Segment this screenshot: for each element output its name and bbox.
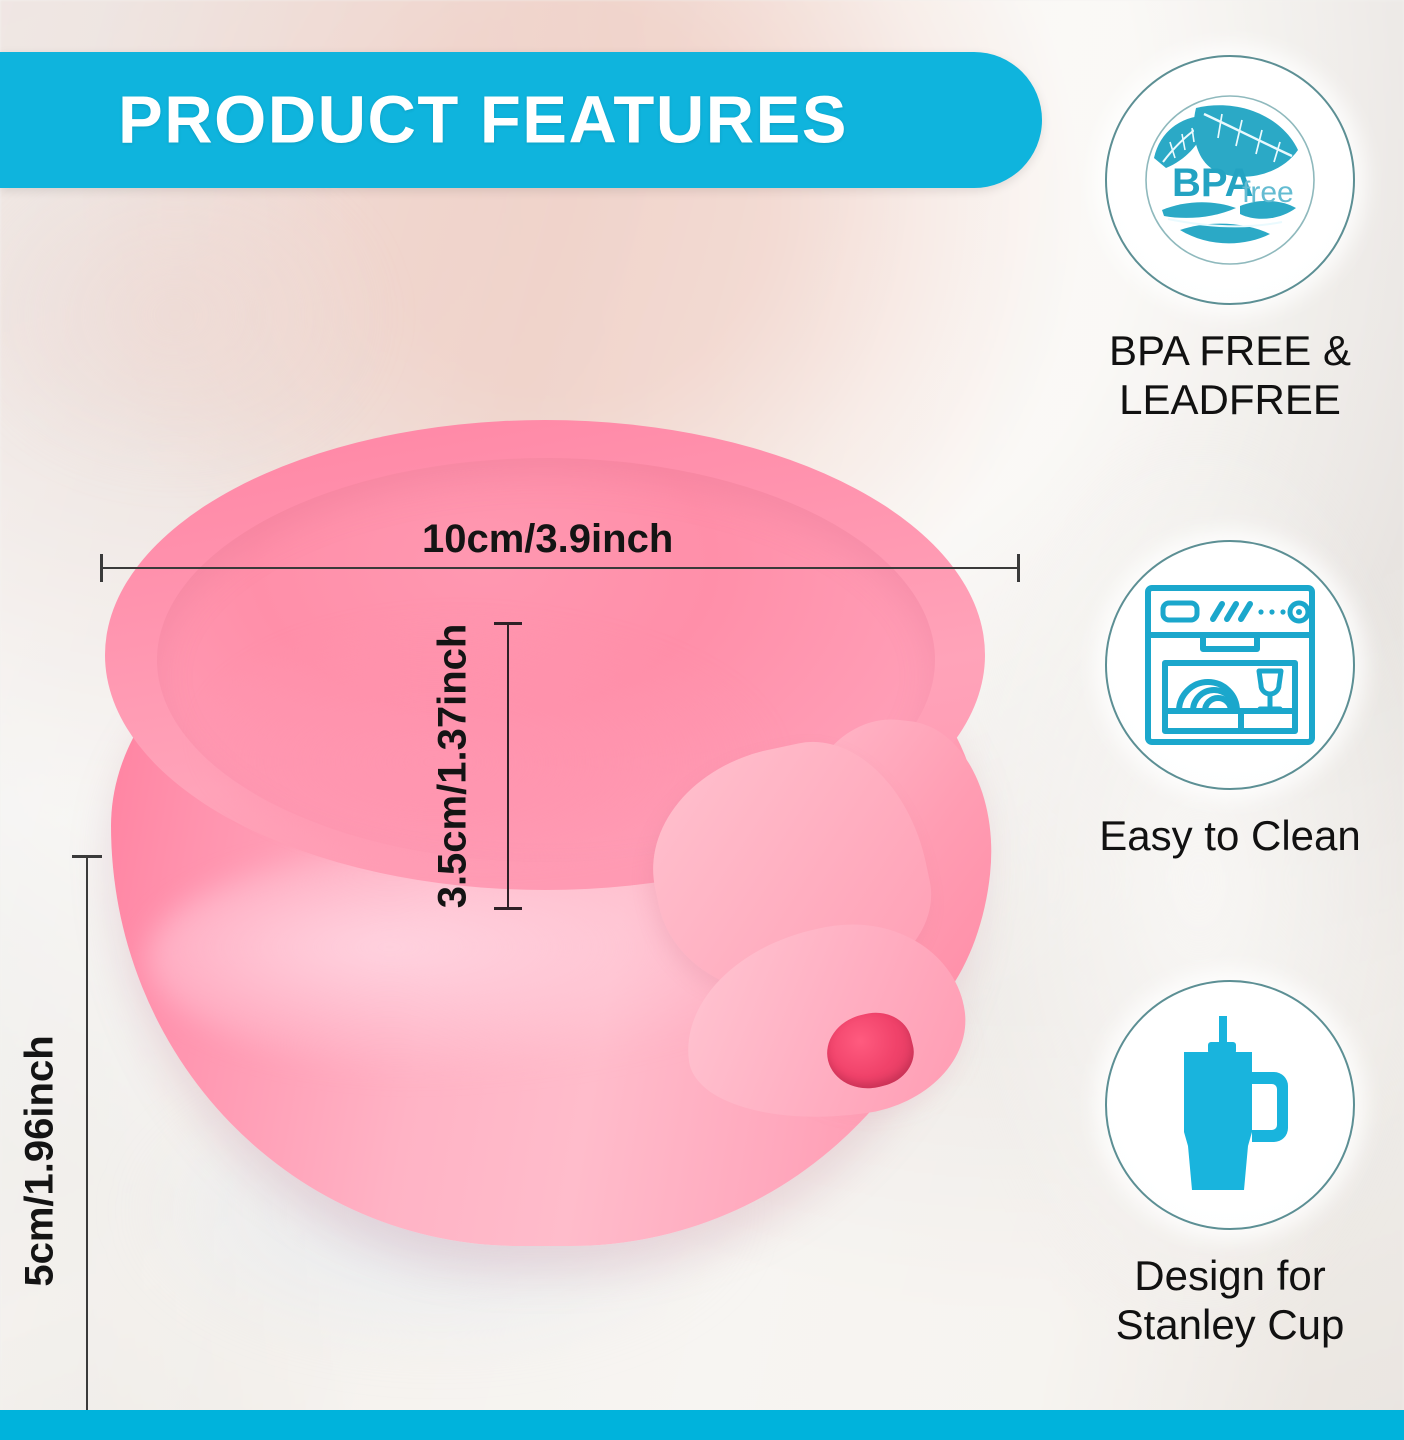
bowl-handle-notch (645, 720, 985, 1150)
feature-label-stanley-cup: Design for Stanley Cup (1056, 1252, 1404, 1349)
feature-label-bpa-free: BPA FREE & LEADFREE (1056, 327, 1404, 424)
bpa-free-leaf-badge-icon: BPA free (1130, 80, 1330, 280)
stanley-cup-badge (1105, 980, 1355, 1230)
feature-item-easy-to-clean: Easy to Clean (1056, 540, 1404, 861)
header-banner: PRODUCT FEATURES (0, 52, 1042, 188)
height-dimension-label: 5cm/1.96inch (18, 1035, 63, 1286)
page-title: PRODUCT FEATURES (118, 82, 848, 159)
product-image: 10cm/3.9inch 3.5cm/1.37inch 5cm/1.96inch (0, 190, 1060, 1410)
height-dimension-line (86, 855, 88, 1440)
bottom-accent-bar (0, 1410, 1404, 1440)
easy-to-clean-badge (1105, 540, 1355, 790)
feature-item-bpa-free: BPA free BPA FREE & LEADFREE (1056, 55, 1404, 424)
feature-label-easy-to-clean: Easy to Clean (1056, 812, 1404, 861)
width-dimension-label: 10cm/3.9inch (422, 517, 673, 562)
tumbler-cup-icon (1146, 1012, 1314, 1198)
svg-text:free: free (1242, 176, 1294, 209)
feature-item-stanley-cup: Design for Stanley Cup (1056, 980, 1404, 1349)
product-features-infographic: PRODUCT FEATURES 10cm/3.9inch 3.5cm/1.37… (0, 0, 1404, 1440)
bpa-free-badge: BPA free (1105, 55, 1355, 305)
dishwasher-icon (1141, 581, 1319, 749)
feature-list: BPA free BPA FREE & LEADFREE (1056, 40, 1404, 1410)
inner-depth-dimension-line (507, 622, 509, 910)
width-dimension-line (100, 567, 1020, 569)
inner-depth-dimension-label: 3.5cm/1.37inch (431, 624, 476, 909)
